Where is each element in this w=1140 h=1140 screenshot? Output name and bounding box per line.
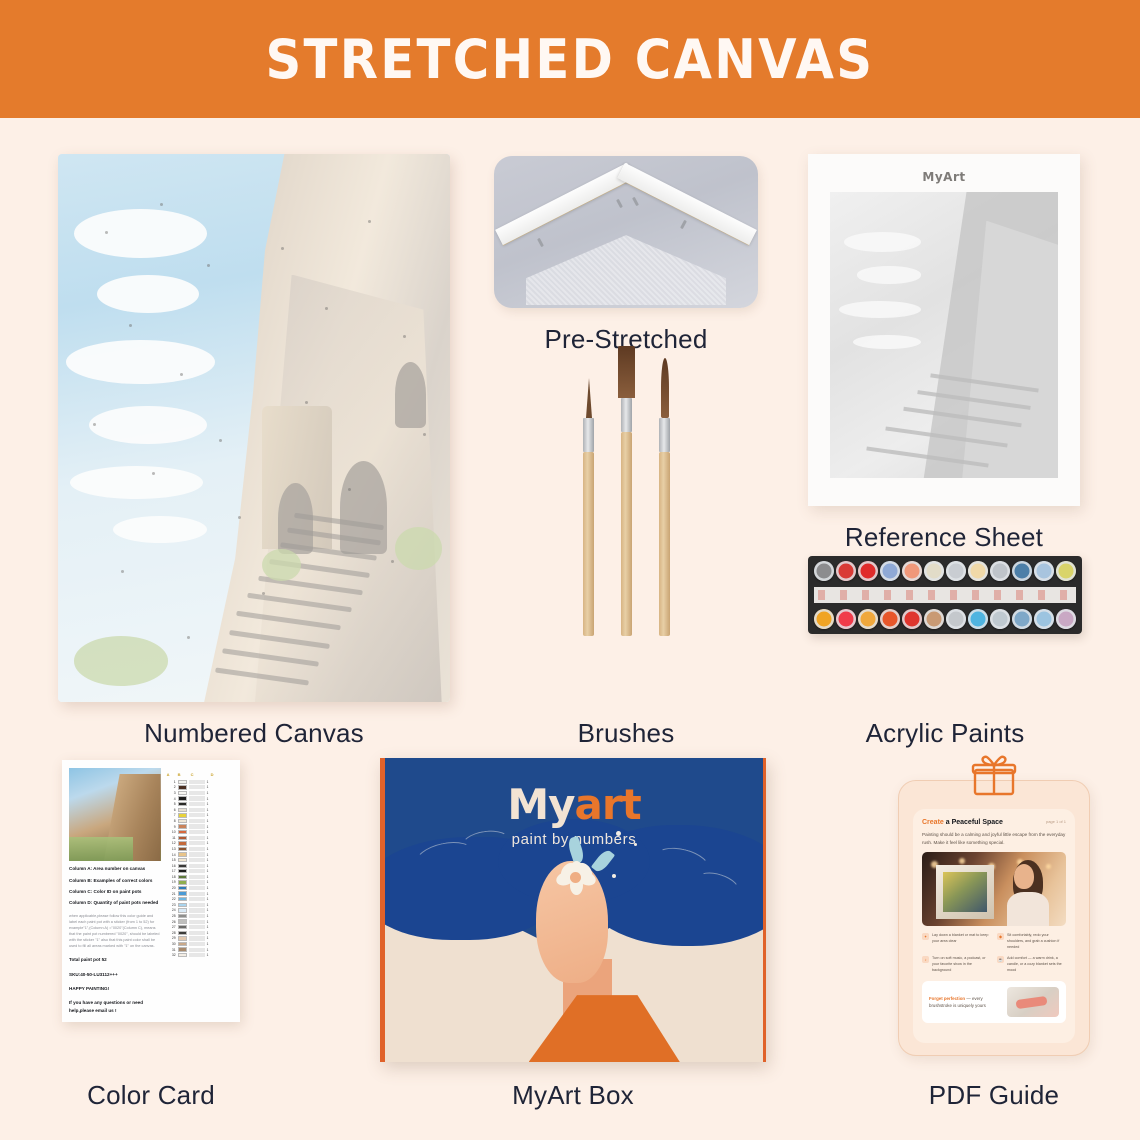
color-card-row-index: 7	[167, 813, 176, 817]
color-card-row-qty: 1	[207, 953, 209, 957]
color-card-row-swatch	[178, 864, 187, 868]
paint-pot	[946, 561, 966, 581]
color-card-row-index: 20	[167, 886, 176, 890]
color-card-row-swatch	[178, 819, 187, 823]
color-card-row-code	[189, 880, 205, 884]
color-card-row-swatch	[178, 858, 187, 862]
color-card-row-code	[189, 931, 205, 935]
color-card-row-code	[189, 942, 205, 946]
color-card-row-swatch	[178, 852, 187, 856]
acrylic-paints-item	[808, 556, 1082, 634]
color-card-row-swatch	[178, 780, 187, 784]
flower-icon	[559, 861, 593, 895]
color-card-row-index: 8	[167, 819, 176, 823]
color-card-row-swatch	[178, 925, 187, 929]
paint-pot-row-bottom	[814, 609, 1076, 629]
color-card-column-c: Column C: Color ID on paint pots	[69, 888, 161, 895]
color-card-row-code	[189, 903, 205, 907]
pdf-guide-footer: Forget perfection — every brushstroke is…	[922, 981, 1066, 1023]
color-card-note: when applicable,please follow this color…	[69, 913, 161, 949]
brush-flat	[621, 346, 632, 636]
color-card-row-code	[189, 791, 205, 795]
color-card-row-code	[189, 886, 205, 890]
color-card-row-qty: 1	[207, 853, 209, 857]
color-card-row-code	[189, 925, 205, 929]
color-card-row-qty: 1	[207, 858, 209, 862]
color-card-row-swatch	[178, 953, 187, 957]
color-card-row-code	[189, 892, 205, 896]
staple-icon	[680, 220, 687, 229]
color-card-row-swatch	[178, 936, 187, 940]
pdf-guide-photo	[922, 852, 1066, 926]
color-card-row-qty: 1	[207, 830, 209, 834]
pdf-footer-image	[1007, 987, 1059, 1017]
color-card-row-swatch	[178, 903, 187, 907]
reference-sheet-logo: MyArt	[822, 170, 1066, 184]
color-card-row-index: 6	[167, 808, 176, 812]
color-card-item: Column A: Area number on canvas Column B…	[62, 760, 240, 1022]
paint-pot	[902, 609, 922, 629]
staple-icon	[537, 238, 544, 247]
color-card-row: 321	[167, 952, 233, 958]
caption-pdf-guide: PDF Guide	[898, 1080, 1090, 1111]
brush-handle	[659, 452, 670, 636]
canvas-number-dots	[58, 154, 450, 702]
color-card-row-qty: 1	[207, 897, 209, 901]
paint-pot	[880, 561, 900, 581]
brush-tip	[661, 358, 669, 418]
staple-icon	[632, 197, 639, 206]
pdf-guide-tips: ✦Lay down a blanket or mat to keep your …	[922, 933, 1066, 974]
myart-box-image: Myart paint by numbers	[380, 758, 766, 1062]
pdf-guide-tip: ✦Lay down a blanket or mat to keep your …	[922, 933, 990, 951]
color-card-row-qty: 1	[207, 920, 209, 924]
paint-pot-row-top	[814, 561, 1076, 581]
color-card-row-index: 11	[167, 836, 176, 840]
color-card-column-d: Column D: Quantity of paint pots needed	[69, 899, 161, 906]
sparkle-dot	[612, 874, 616, 878]
color-card-row-qty: 1	[207, 825, 209, 829]
caption-color-card: Color Card	[36, 1080, 266, 1111]
reference-sheet-artwork	[830, 192, 1058, 478]
paint-pot	[968, 609, 988, 629]
color-card-row-code	[189, 948, 205, 952]
color-card-row-code	[189, 914, 205, 918]
color-card-row-qty: 1	[207, 931, 209, 935]
tip-text: Sit comfortably, redo your shoulders, an…	[1007, 933, 1065, 951]
color-card-row-index: 1	[167, 780, 176, 784]
color-card-row-index: 27	[167, 925, 176, 929]
color-card-table-header: ABCD	[167, 770, 233, 779]
color-card-row-index: 18	[167, 875, 176, 879]
tip-icon: ☕	[997, 956, 1004, 963]
color-card-row-code	[189, 785, 205, 789]
color-card-row-qty: 1	[207, 841, 209, 845]
tip-icon: ✦	[922, 933, 929, 940]
color-card-row-swatch	[178, 897, 187, 901]
brush-tip	[618, 346, 635, 398]
pdf-guide-tip: ♪Turn on soft music, a podcast, or your …	[922, 956, 990, 974]
color-card-total: Total paint pot 52	[69, 956, 161, 963]
color-card-row-index: 28	[167, 931, 176, 935]
color-card-row-qty: 1	[207, 797, 209, 801]
color-card-row-index: 29	[167, 936, 176, 940]
color-card-row-qty: 1	[207, 925, 209, 929]
paint-pot	[1012, 561, 1032, 581]
color-card-row-index: 4	[167, 797, 176, 801]
brush-tip	[586, 378, 592, 418]
color-card-row-swatch	[178, 880, 187, 884]
color-card-row-code	[189, 897, 205, 901]
brushes-item	[575, 346, 680, 636]
tip-text: Add comfort — a warm drink, a candle, or…	[1007, 956, 1065, 974]
canvas-back-weave	[526, 235, 727, 305]
color-card-row-qty: 1	[207, 875, 209, 879]
color-card-row-qty: 1	[207, 780, 209, 784]
color-card-row-index: 17	[167, 869, 176, 873]
pdf-title-highlight: Create	[922, 819, 944, 826]
gift-icon	[971, 754, 1017, 796]
paint-pot	[1034, 561, 1054, 581]
color-card-row-index: 15	[167, 858, 176, 862]
color-card-row-index: 13	[167, 847, 176, 851]
pdf-page-number: page 1 of 1	[1046, 819, 1066, 824]
paint-pot	[1056, 609, 1076, 629]
color-card-row-swatch	[178, 919, 187, 923]
brush-ferrule	[583, 418, 594, 452]
color-card-row-swatch	[178, 841, 187, 845]
color-card-row-code	[189, 908, 205, 912]
paint-pot	[858, 609, 878, 629]
brush-handle	[583, 452, 594, 636]
color-card-row-qty: 1	[207, 791, 209, 795]
color-card-row-code	[189, 858, 205, 862]
paint-pot	[902, 561, 922, 581]
color-card-row-swatch	[178, 813, 187, 817]
caption-reference-sheet: Reference Sheet	[808, 522, 1080, 553]
paint-pot	[924, 561, 944, 581]
color-card-row-qty: 1	[207, 948, 209, 952]
color-card-row-code	[189, 875, 205, 879]
color-card-row-index: 30	[167, 942, 176, 946]
color-card-row-code	[189, 953, 205, 957]
pdf-guide-tip: ◆Sit comfortably, redo your shoulders, a…	[997, 933, 1065, 951]
color-card-row-swatch	[178, 808, 187, 812]
color-card-row-swatch	[178, 824, 187, 828]
color-card-row-code	[189, 796, 205, 800]
color-card-row-qty: 1	[207, 808, 209, 812]
color-card-row-code	[189, 830, 205, 834]
pdf-title-rest: a Peaceful Space	[944, 819, 1003, 826]
caption-numbered-canvas: Numbered Canvas	[58, 718, 450, 749]
logo-my-text: My	[507, 780, 574, 829]
color-card-row-swatch	[178, 947, 187, 951]
paint-pot	[968, 561, 988, 581]
color-card-contact: If you have any questions or need help,p…	[69, 999, 161, 1014]
pdf-guide-title: Create a Peaceful Space	[922, 819, 1066, 826]
product-grid: Numbered Canvas Pre-Stretched MyArt	[0, 118, 1140, 1140]
color-card-row-qty: 1	[207, 936, 209, 940]
color-card-row-index: 21	[167, 892, 176, 896]
numbered-canvas-image	[58, 154, 450, 702]
color-card-row-qty: 1	[207, 802, 209, 806]
paint-pot	[1012, 609, 1032, 629]
paint-pot	[990, 561, 1010, 581]
color-card-row-qty: 1	[207, 908, 209, 912]
color-card-row-swatch	[178, 891, 187, 895]
paint-pot	[836, 609, 856, 629]
color-card-row-index: 26	[167, 920, 176, 924]
color-card-row-index: 32	[167, 953, 176, 957]
color-card-row-code	[189, 864, 205, 868]
color-card-row-index: 12	[167, 841, 176, 845]
color-card-row-swatch	[178, 830, 187, 834]
color-card-header-cell: D	[211, 772, 219, 777]
color-card-left-column: Column A: Area number on canvas Column B…	[69, 768, 161, 1014]
color-card-row-code	[189, 813, 205, 817]
reference-sheet-item: MyArt	[808, 154, 1080, 506]
color-card-row-index: 23	[167, 903, 176, 907]
color-card-row-index: 9	[167, 825, 176, 829]
color-card-row-swatch	[178, 791, 187, 795]
color-card-row-qty: 1	[207, 942, 209, 946]
color-card-row-qty: 1	[207, 864, 209, 868]
pre-stretched-item	[494, 156, 758, 308]
paint-pot	[836, 561, 856, 581]
color-card-row-index: 22	[167, 897, 176, 901]
pdf-guide-item: page 1 of 1 Create a Peaceful Space Pain…	[898, 754, 1090, 1064]
color-card-swatch-table: ABCD 11213141516171819110111112113114115…	[167, 768, 233, 1014]
paint-pot	[1056, 561, 1076, 581]
color-card-header-cell: B	[178, 772, 189, 777]
color-card-row-index: 14	[167, 853, 176, 857]
color-card-row-swatch	[178, 785, 187, 789]
color-card-row-qty: 1	[207, 869, 209, 873]
color-card-row-swatch	[178, 942, 187, 946]
page-title: STRETCHED CANVAS	[266, 28, 875, 91]
color-card-row-index: 10	[167, 830, 176, 834]
paint-tray-label	[814, 587, 1076, 603]
paint-pot	[1034, 609, 1054, 629]
color-card-preview-image	[69, 768, 161, 861]
brush-round	[659, 358, 670, 636]
color-card-row-index: 19	[167, 880, 176, 884]
paint-pot	[814, 561, 834, 581]
staple-icon	[617, 198, 624, 207]
brush-ferrule	[659, 418, 670, 452]
color-card-row-swatch	[178, 796, 187, 800]
pre-stretched-image	[494, 156, 758, 308]
pdf-guide-tip: ☕Add comfort — a warm drink, a candle, o…	[997, 956, 1065, 974]
paint-pot	[924, 609, 944, 629]
color-card-row-qty: 1	[207, 785, 209, 789]
color-card-sku: SKU:40-50-LU3112+++	[69, 971, 161, 978]
color-card-row-index: 3	[167, 791, 176, 795]
paint-pot	[880, 609, 900, 629]
numbered-canvas-item	[58, 154, 450, 702]
pdf-footer-text: Forget perfection — every brushstroke is…	[929, 995, 1001, 1009]
color-card-row-code	[189, 936, 205, 940]
color-card-row-swatch	[178, 836, 187, 840]
color-card-row-code	[189, 808, 205, 812]
pdf-guide-body: Painting should be a calming and joyful …	[922, 831, 1066, 846]
color-card-column-b: Column B: Examples of correct colors	[69, 877, 161, 884]
color-card-row-qty: 1	[207, 903, 209, 907]
color-card-row-index: 24	[167, 908, 176, 912]
color-card-row-qty: 1	[207, 836, 209, 840]
color-card-row-qty: 1	[207, 819, 209, 823]
paint-tray	[808, 556, 1082, 634]
color-card-row-index: 25	[167, 914, 176, 918]
color-card-header-cell: A	[167, 772, 176, 777]
paint-pot	[946, 609, 966, 629]
color-card-row-code	[189, 920, 205, 924]
color-card-row-code	[189, 802, 205, 806]
tip-text: Turn on soft music, a podcast, or your f…	[932, 956, 990, 974]
color-card-happy: HAPPY PAINTING!	[69, 985, 161, 992]
color-card-row-swatch	[178, 847, 187, 851]
caption-brushes: Brushes	[494, 718, 758, 749]
reference-sheet-paper: MyArt	[808, 154, 1080, 506]
color-card-row-swatch	[178, 802, 187, 806]
tip-icon: ◆	[997, 933, 1004, 940]
color-card-row-qty: 1	[207, 892, 209, 896]
color-card-row-code	[189, 824, 205, 828]
page-header: STRETCHED CANVAS	[0, 0, 1140, 118]
pdf-guide-card: page 1 of 1 Create a Peaceful Space Pain…	[898, 780, 1090, 1056]
color-card-row-qty: 1	[207, 847, 209, 851]
brush-ferrule	[621, 398, 632, 432]
color-card-table-body: 1121314151617181911011111211311411511611…	[167, 779, 233, 958]
color-card-row-code	[189, 780, 205, 784]
color-card-paper: Column A: Area number on canvas Column B…	[62, 760, 240, 1022]
stretcher-bar-left	[495, 163, 634, 245]
color-card-row-qty: 1	[207, 813, 209, 817]
color-card-row-swatch	[178, 875, 187, 879]
caption-acrylic-paints: Acrylic Paints	[808, 718, 1082, 749]
tip-text: Lay down a blanket or mat to keep your a…	[932, 933, 990, 951]
color-card-row-code	[189, 841, 205, 845]
color-card-row-code	[189, 819, 205, 823]
color-card-row-swatch	[178, 886, 187, 890]
color-card-row-qty: 1	[207, 886, 209, 890]
color-card-row-code	[189, 836, 205, 840]
caption-myart-box: MyArt Box	[380, 1080, 766, 1111]
pdf-footer-bold: Forget perfection	[929, 996, 965, 1001]
color-card-row-code	[189, 847, 205, 851]
color-card-row-qty: 1	[207, 880, 209, 884]
color-card-column-a: Column A: Area number on canvas	[69, 865, 161, 872]
pdf-guide-page: page 1 of 1 Create a Peaceful Space Pain…	[913, 809, 1075, 1043]
logo-art-text: art	[575, 780, 641, 829]
color-card-row-swatch	[178, 931, 187, 935]
brush-handle	[621, 432, 632, 636]
brush-thin	[583, 378, 594, 636]
paint-pot	[814, 609, 834, 629]
color-card-row-index: 31	[167, 948, 176, 952]
color-card-row-qty: 1	[207, 914, 209, 918]
color-card-row-swatch	[178, 914, 187, 918]
color-card-row-index: 16	[167, 864, 176, 868]
color-card-row-index: 2	[167, 785, 176, 789]
paint-pot	[858, 561, 878, 581]
color-card-row-index: 5	[167, 802, 176, 806]
myart-box-item: Myart paint by numbers	[380, 758, 766, 1062]
myart-logo: Myart paint by numbers	[385, 758, 763, 848]
paint-pot	[990, 609, 1010, 629]
color-card-row-code	[189, 869, 205, 873]
tip-icon: ♪	[922, 956, 929, 963]
color-card-header-cell: C	[191, 772, 209, 777]
color-card-row-swatch	[178, 908, 187, 912]
color-card-row-swatch	[178, 869, 187, 873]
color-card-row-code	[189, 852, 205, 856]
